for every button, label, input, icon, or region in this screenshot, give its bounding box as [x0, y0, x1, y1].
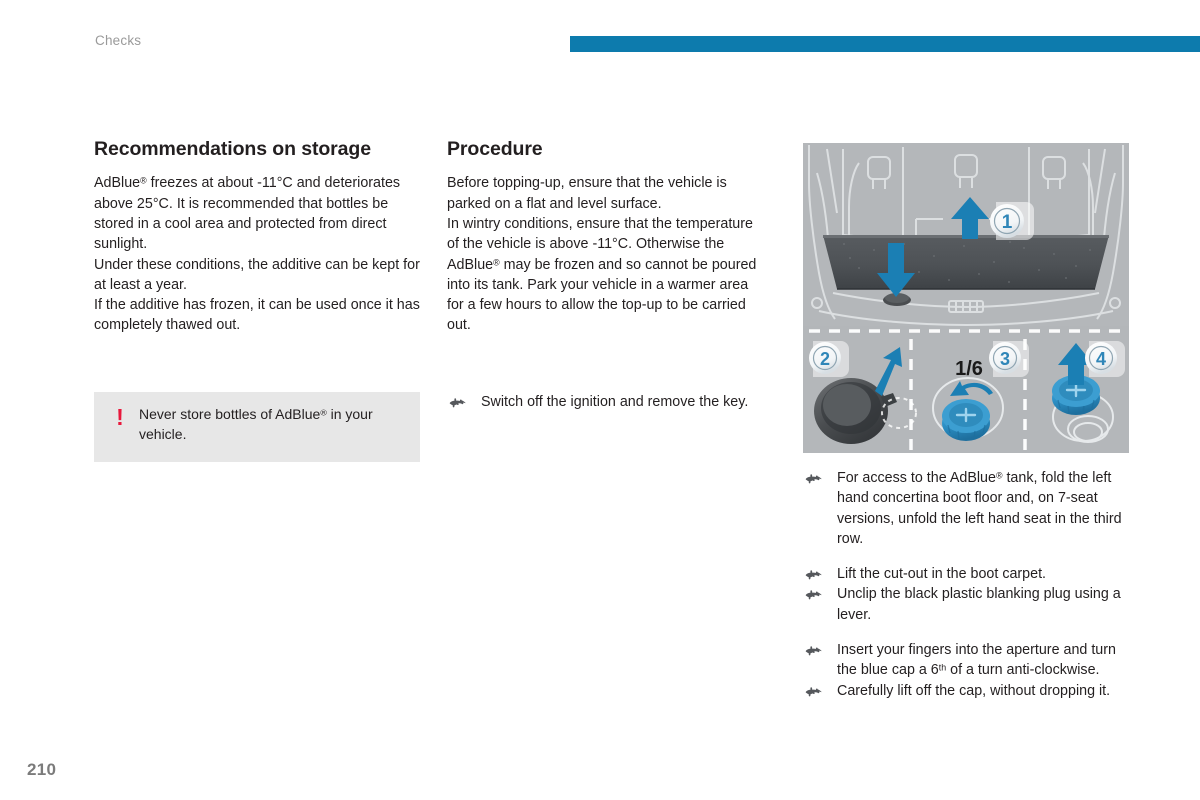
pointing-hand-icon — [805, 587, 823, 601]
svg-text:1: 1 — [1002, 212, 1013, 233]
column-procedure: Procedure Before topping-up, ensure that… — [447, 138, 757, 336]
list-item-text-part1: Lift the cut-out in the boot carpet. — [837, 566, 1046, 582]
list-item: Switch off the ignition and remove the k… — [447, 392, 777, 412]
adblue-access-illustration: 1 2 — [803, 143, 1129, 453]
list-item-text-part2: of a turn anti-clockwise. — [946, 662, 1099, 678]
svg-text:3: 3 — [1000, 349, 1010, 369]
recommendations-body-part1: AdBlue — [94, 175, 140, 191]
warning-text: Never store bottles of AdBlue® in your v… — [139, 404, 404, 444]
chapter-title: Checks — [95, 33, 141, 48]
list-item-label: Unclip the black plastic blanking plug u… — [837, 586, 1121, 622]
bullet-list-procedure: Switch off the ignition and remove the k… — [447, 392, 777, 412]
recommendations-body-part2: freezes at about -11°C and deteriorates … — [94, 175, 420, 333]
callout-badge-4: 4 — [1085, 341, 1125, 377]
list-item-label: Carefully lift off the cap, without drop… — [837, 683, 1110, 699]
pointing-hand-icon — [805, 684, 823, 698]
exclamation-icon: ! — [113, 406, 127, 429]
warning-box: ! Never store bottles of AdBlue® in your… — [94, 392, 420, 462]
callout-badge-3: 3 — [989, 341, 1029, 377]
callout-badge-1: 1 — [990, 202, 1034, 240]
list-item-label: Switch off the ignition and remove the k… — [481, 394, 748, 410]
page-title-recommendations: Recommendations on storage — [94, 138, 422, 161]
recommendations-body: AdBlue® freezes at about -11°C and deter… — [94, 173, 422, 335]
svg-text:1/6: 1/6 — [955, 358, 983, 380]
list-item: Unclip the black plastic blanking plug u… — [803, 584, 1139, 625]
pointing-hand-icon — [805, 471, 823, 485]
column-recommendations: Recommendations on storage AdBlue® freez… — [94, 138, 422, 336]
instruction-list-container: For access to the AdBlue® tank, fold the… — [803, 468, 1139, 701]
warning-text-part1: Never store bottles of AdBlue — [139, 406, 320, 422]
page-number: 210 — [27, 760, 56, 780]
list-item-label: For access to the AdBlue® tank, fold the… — [837, 470, 1122, 547]
list-item-text-part1: For access to the AdBlue — [837, 470, 996, 486]
procedure-step-list: Switch off the ignition and remove the k… — [447, 392, 777, 412]
page-title-procedure: Procedure — [447, 138, 757, 161]
list-item-label: Lift the cut-out in the boot carpet. — [837, 566, 1046, 582]
list-item-text-part1: Unclip the black plastic blanking plug u… — [837, 586, 1121, 622]
list-item-label: Insert your fingers into the aperture an… — [837, 642, 1116, 678]
svg-text:4: 4 — [1096, 349, 1106, 369]
list-item: Lift the cut-out in the boot carpet. — [803, 564, 1139, 584]
pointing-hand-icon — [805, 567, 823, 581]
procedure-body-part2: may be frozen and so cannot be poured in… — [447, 257, 756, 334]
bullet-list-instructions: For access to the AdBlue® tank, fold the… — [803, 468, 1139, 701]
list-item-text-part1: Carefully lift off the cap, without drop… — [837, 683, 1110, 699]
pointing-hand-icon — [449, 395, 467, 409]
list-item: For access to the AdBlue® tank, fold the… — [803, 468, 1139, 549]
callout-badge-2: 2 — [809, 341, 849, 377]
procedure-body: Before topping-up, ensure that the vehic… — [447, 173, 757, 335]
header-accent-bar — [570, 36, 1200, 52]
list-item: Carefully lift off the cap, without drop… — [803, 681, 1139, 701]
svg-text:2: 2 — [820, 349, 830, 369]
pointing-hand-icon — [805, 643, 823, 657]
list-item: Insert your fingers into the aperture an… — [803, 640, 1139, 681]
